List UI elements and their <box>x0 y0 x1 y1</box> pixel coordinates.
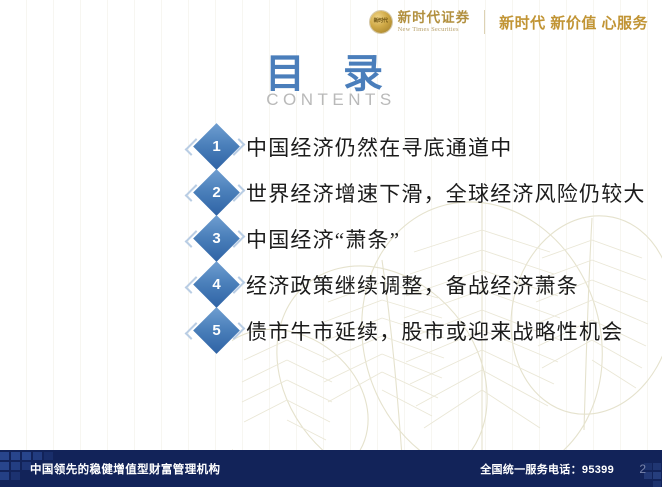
list-item-label[interactable]: 中国经济仍然在寻底通道中 <box>246 132 512 162</box>
item-number: 4 <box>200 268 233 301</box>
list-item-label[interactable]: 债市牛市延续，股市或迎来战略性机会 <box>246 316 623 346</box>
footer-tagline: 中国领先的稳健增值型财富管理机构 <box>30 450 220 487</box>
item-number-marker: 5 <box>188 311 240 351</box>
list-item[interactable]: 4 经济政策继续调整，备战经济萧条 <box>188 262 652 308</box>
item-number: 5 <box>200 314 233 347</box>
brand-name-en: New Times Securities <box>398 25 471 34</box>
item-number-marker: 4 <box>188 265 240 305</box>
list-item-label[interactable]: 经济政策继续调整，备战经济萧条 <box>246 270 579 300</box>
slide-footer: 中国领先的稳健增值型财富管理机构 全国统一服务电话：95399 2 <box>0 450 662 487</box>
list-item[interactable]: 3 中国经济“萧条” <box>188 216 652 262</box>
footer-hotline: 全国统一服务电话：95399 <box>480 450 614 487</box>
company-seal-icon: 新时代 <box>370 11 392 33</box>
brand-divider <box>484 10 485 34</box>
item-number-marker: 3 <box>188 219 240 259</box>
brand-lockup: 新时代 新时代证券 New Times Securities 新时代 新价值 心… <box>370 10 648 34</box>
brand-name-cn: 新时代证券 <box>398 11 471 25</box>
list-item[interactable]: 1 中国经济仍然在寻底通道中 <box>188 124 652 170</box>
list-item[interactable]: 5 债市牛市延续，股市或迎来战略性机会 <box>188 308 652 354</box>
slide-canvas: 新时代 新时代证券 New Times Securities 新时代 新价值 心… <box>0 0 662 487</box>
list-item-label[interactable]: 中国经济“萧条” <box>246 224 400 254</box>
company-seal-label: 新时代 <box>370 11 392 33</box>
page-title-block: 目 录 CONTENTS <box>0 52 662 110</box>
list-item[interactable]: 2 世界经济增速下滑，全球经济风险仍较大 <box>188 170 652 216</box>
item-number: 2 <box>200 176 233 209</box>
list-item-label[interactable]: 世界经济增速下滑，全球经济风险仍较大 <box>246 178 646 208</box>
item-number: 3 <box>200 222 233 255</box>
slide-header: 新时代 新时代证券 New Times Securities 新时代 新价值 心… <box>0 0 662 44</box>
brand-name-block: 新时代证券 New Times Securities <box>398 11 471 34</box>
item-number-marker: 2 <box>188 173 240 213</box>
page-number: 2 <box>639 450 646 487</box>
contents-list: 1 中国经济仍然在寻底通道中 2 世界经济增速下滑，全球经济风险仍较大 3 中国… <box>188 124 652 354</box>
page-subtitle: CONTENTS <box>0 90 662 110</box>
brand-slogan: 新时代 新价值 心服务 <box>499 12 648 33</box>
item-number-marker: 1 <box>188 127 240 167</box>
item-number: 1 <box>200 130 233 163</box>
